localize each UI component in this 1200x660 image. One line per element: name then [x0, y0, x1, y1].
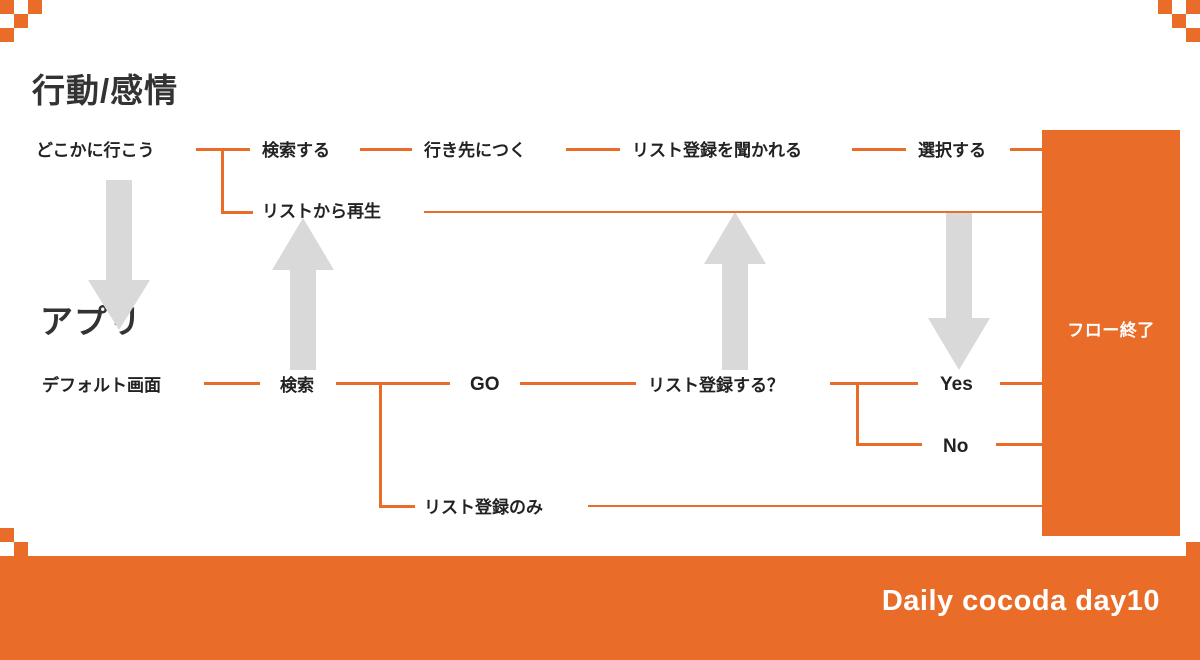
corner-checker-tr-4	[1186, 28, 1200, 42]
corner-checker-tr-1	[1158, 0, 1172, 14]
node-asked-list-registration[interactable]: リスト登録を聞かれる	[632, 142, 802, 159]
node-go[interactable]: GO	[470, 375, 500, 394]
flow-end-label: フロー終了	[1042, 316, 1180, 341]
node-search-action[interactable]: 検索する	[262, 142, 330, 159]
node-search-screen[interactable]: 検索	[280, 377, 314, 394]
node-play-from-list[interactable]: リストから再生	[262, 203, 381, 220]
corner-checker-tr-2	[1186, 0, 1200, 14]
arrow-up-search-icon	[272, 218, 334, 370]
connector-arrive-to-asked	[566, 148, 620, 151]
corner-checker-br-1	[1186, 542, 1200, 556]
node-yes[interactable]: Yes	[940, 375, 973, 394]
arrow-up-register-icon	[704, 212, 766, 370]
connector-playlist-to-end	[424, 211, 1044, 213]
footer-title: Daily cocoda day10	[882, 585, 1160, 618]
node-arrive-destination[interactable]: 行き先につく	[424, 142, 526, 159]
arrow-down-left-icon	[88, 180, 150, 330]
connector-yes-to-end	[1000, 382, 1044, 385]
corner-checker-tr-3	[1172, 14, 1186, 28]
connector-confirm-to-split	[830, 382, 918, 385]
corner-checker-tl-4	[0, 28, 14, 42]
node-no[interactable]: No	[943, 437, 968, 456]
corner-checker-tl-2	[28, 0, 42, 14]
node-register-confirm[interactable]: リスト登録する？	[648, 377, 784, 394]
arrow-down-yes-icon	[928, 212, 990, 370]
connector-app-split-trunk	[379, 382, 382, 507]
connector-search-to-arrive	[360, 148, 412, 151]
node-default-screen[interactable]: デフォルト画面	[42, 377, 161, 394]
lane-heading-behavior: 行動/感情	[32, 64, 178, 112]
connector-split-to-registeronly	[379, 505, 415, 508]
corner-checker-tl-1	[0, 0, 14, 14]
connector-asked-to-select	[852, 148, 906, 151]
connector-split-to-playlist	[221, 211, 253, 214]
node-register-only[interactable]: リスト登録のみ	[424, 499, 543, 516]
connector-split-to-no	[856, 443, 922, 446]
corner-checker-tl-3	[14, 14, 28, 28]
corner-checker-bl-1	[0, 528, 14, 542]
connector-yesno-trunk	[856, 382, 859, 446]
connector-select-to-end	[1010, 148, 1044, 151]
node-select[interactable]: 選択する	[918, 142, 986, 159]
slide-canvas: Daily cocoda day10 フロー終了 行動/感情 アプリ	[0, 0, 1200, 660]
connector-split-trunk	[221, 148, 224, 214]
connector-no-to-end	[996, 443, 1044, 446]
connector-default-to-search	[204, 382, 260, 385]
corner-checker-bl-2	[14, 542, 28, 556]
connector-go-to-confirm	[520, 382, 636, 385]
connector-search-to-split	[336, 382, 450, 385]
connector-registeronly-to-end	[588, 505, 1044, 507]
node-go-somewhere[interactable]: どこかに行こう	[36, 142, 155, 159]
